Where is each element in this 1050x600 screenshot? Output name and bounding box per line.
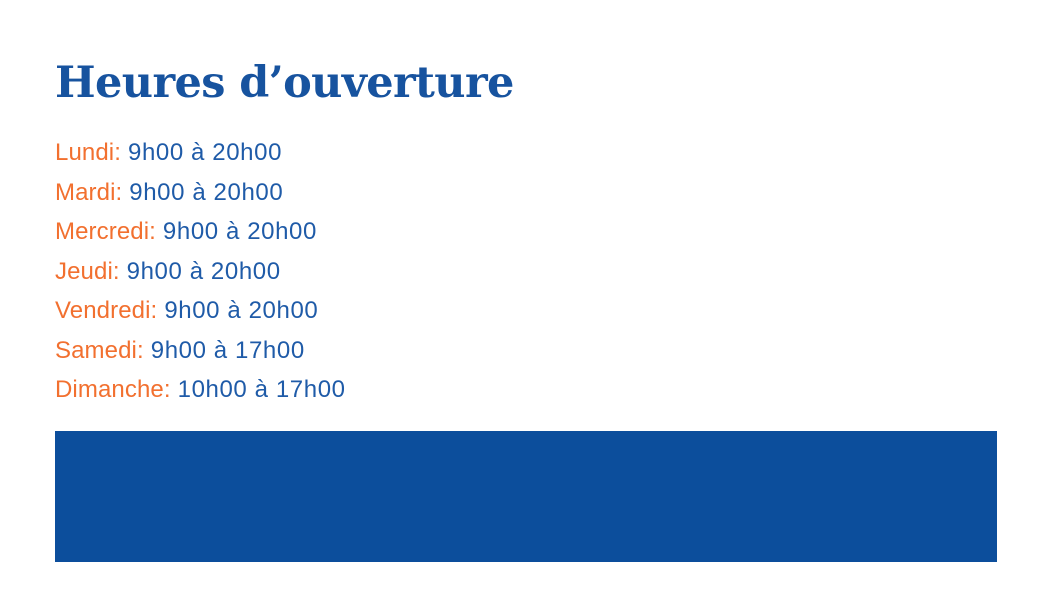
day-hours: 9h00 à 20h00 <box>157 297 318 324</box>
slide-canvas: Heures d’ouverture Lundi: 9h00 à 20h00 M… <box>0 0 1050 600</box>
day-hours: 9h00 à 20h00 <box>156 218 317 245</box>
bottom-banner-block <box>55 431 997 562</box>
day-hours: 10h00 à 17h00 <box>171 376 346 403</box>
day-label: Dimanche: <box>55 376 171 403</box>
list-item: Mardi: 9h00 à 20h00 <box>55 173 575 213</box>
day-hours: 9h00 à 20h00 <box>122 179 283 206</box>
day-label: Jeudi: <box>55 258 120 285</box>
day-hours: 9h00 à 17h00 <box>144 337 305 364</box>
list-item: Dimanche: 10h00 à 17h00 <box>55 370 575 410</box>
list-item: Samedi: 9h00 à 17h00 <box>55 331 575 371</box>
day-label: Vendredi: <box>55 297 157 324</box>
day-label: Lundi: <box>55 139 121 166</box>
page-title: Heures d’ouverture <box>55 58 514 108</box>
list-item: Lundi: 9h00 à 20h00 <box>55 133 575 173</box>
day-label: Mercredi: <box>55 218 156 245</box>
list-item: Jeudi: 9h00 à 20h00 <box>55 252 575 292</box>
opening-hours-list: Lundi: 9h00 à 20h00 Mardi: 9h00 à 20h00 … <box>55 133 575 410</box>
day-label: Mardi: <box>55 179 122 206</box>
day-hours: 9h00 à 20h00 <box>120 258 281 285</box>
day-label: Samedi: <box>55 337 144 364</box>
list-item: Mercredi: 9h00 à 20h00 <box>55 212 575 252</box>
list-item: Vendredi: 9h00 à 20h00 <box>55 291 575 331</box>
day-hours: 9h00 à 20h00 <box>121 139 282 166</box>
